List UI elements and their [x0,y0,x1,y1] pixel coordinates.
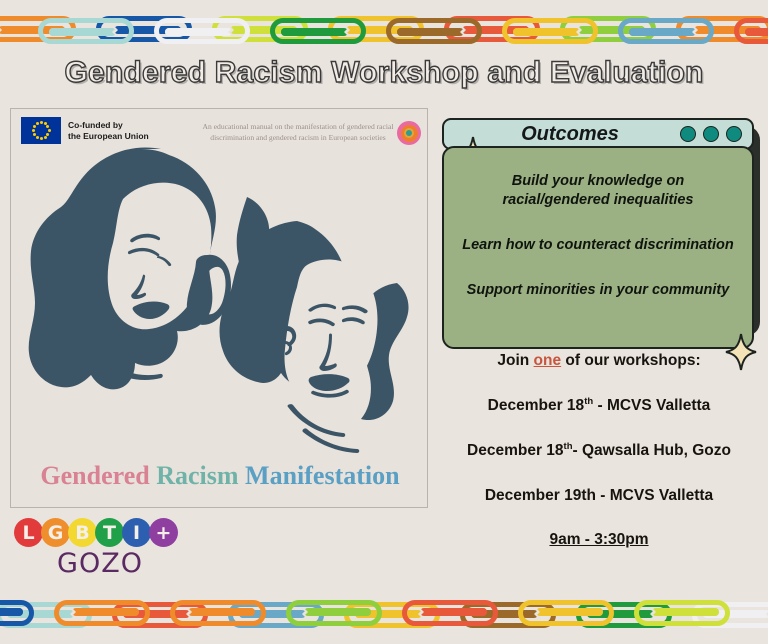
outcome-item: Learn how to counteract discrimination [460,236,736,255]
eu-star-icon [48,129,51,132]
session-venue: Qawsalla Hub, Gozo [582,442,731,459]
lgbti-letter-b: B [68,518,97,547]
teal-dot-icon [703,126,719,142]
paperclip-icon [386,18,482,44]
cover-title-word-3: Manifestation [245,461,400,490]
page-title: Gendered Racism Workshop and Evaluation [0,56,768,90]
lgbti-letter-circles: LGBTI+ [14,518,204,547]
eu-star-icon [40,137,43,140]
workshop-schedule: Join one of our workshops: December 18th… [440,352,758,549]
manual-cover-title: Gendered Racism Manifestation [11,461,428,491]
manual-cover-image: Co-funded by the European Union An educa… [10,108,428,508]
paperclip-chain [0,584,768,644]
paperclip-icon [270,18,366,44]
intro-before: Join [497,352,533,369]
session-venue: MCVS Valletta [607,397,710,414]
paperclip-chain [0,0,768,60]
eu-funding-label: Co-funded by the European Union [68,120,149,141]
session-separator: - [596,487,610,504]
paperclip-icon [154,18,250,44]
lgbti-letter-t: T [95,518,124,547]
lgbti-gozo-logo: LGBTI+ GOZO [14,518,204,579]
eu-star-icon [46,133,49,136]
outcome-item: Support minorities in your community [460,281,736,300]
lgbti-letter-g: G [41,518,70,547]
session-date: December 18 [488,397,585,414]
eu-star-icon [46,125,49,128]
outcome-item: Build your knowledge on racial/gendered … [460,172,736,210]
outcomes-list: Build your knowledge on racial/gendered … [442,146,754,349]
eu-star-icon [44,136,47,139]
cover-title-word-2: Racism [156,461,238,490]
eu-funding-badge: Co-funded by the European Union [21,117,149,144]
teal-dot-icon [680,126,696,142]
session-separator: - [573,442,582,459]
cover-title-word-1: Gendered [40,461,149,490]
workshop-session: December 19th - MCVS Valletta [440,486,758,505]
teal-dot-icon [726,126,742,142]
lgbti-letter-l: L [14,518,43,547]
workshop-session: December 18th- Qawsalla Hub, Gozo [440,441,758,460]
eu-star-icon [33,125,36,128]
paperclip-border-bottom [0,584,768,644]
outcomes-card: Outcomes Build your knowledge on racial/… [442,118,754,349]
session-date: December 18 [467,442,564,459]
paperclip-icon [402,600,498,626]
eu-star-icon [32,129,35,132]
intro-highlight: one [534,352,562,369]
session-separator: - [593,397,607,414]
paperclip-icon [54,600,150,626]
paperclip-border-top [0,0,768,60]
organisation-name: GOZO [14,548,186,579]
paperclip-icon [38,18,134,44]
poster-canvas: Gendered Racism Workshop and Evaluation … [0,0,768,644]
eu-star-icon [36,136,39,139]
manual-subtitle: An educational manual on the manifestati… [189,121,407,143]
eu-star-icon [40,121,43,124]
session-date: December 19th [485,487,596,504]
paperclip-icon [634,600,730,626]
session-venue: MCVS Valletta [610,487,713,504]
outcomes-title: Outcomes [460,123,680,146]
paperclip-icon [0,600,34,626]
concentric-circles-logo-icon [397,121,421,145]
paperclip-icon [518,600,614,626]
paperclip-icon [286,600,382,626]
session-ordinal: th [584,396,593,407]
paperclip-icon [734,18,768,44]
workshop-intro: Join one of our workshops: [440,352,758,370]
paperclip-icon [170,600,266,626]
eu-star-icon [36,122,39,125]
workshop-session: December 18th - MCVS Valletta [440,396,758,415]
two-women-afro-hair-illustration [11,143,428,453]
eu-star-icon [33,133,36,136]
european-union-flag-icon [21,117,61,144]
paperclip-icon [618,18,714,44]
outcomes-dot-group [680,126,742,142]
paperclip-icon [502,18,598,44]
workshop-time: 9am - 3:30pm [440,531,758,549]
lgbti-letter-plus: + [149,518,178,547]
lgbti-letter-i: I [122,518,151,547]
session-ordinal: th [564,441,573,452]
intro-after: of our workshops: [561,352,701,369]
